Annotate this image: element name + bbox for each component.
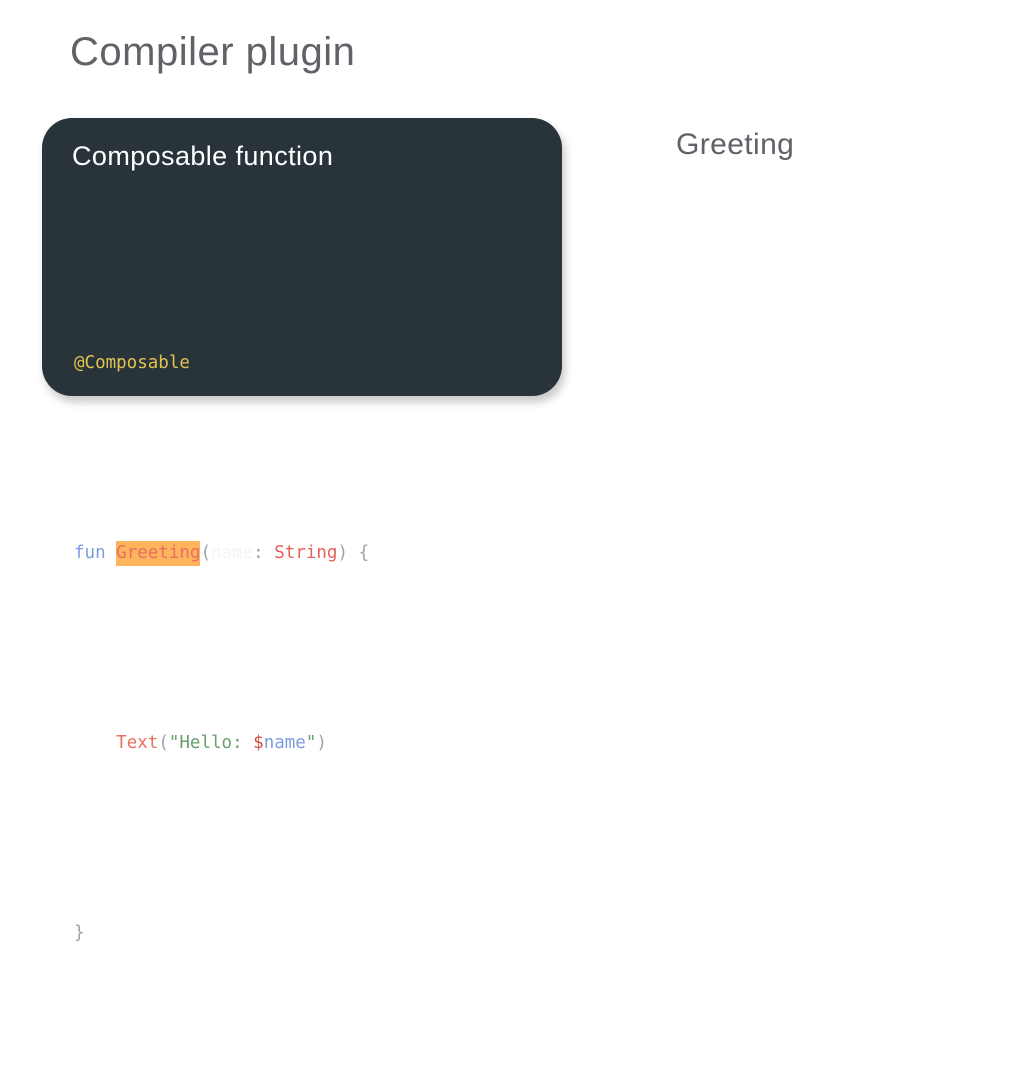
code-line: } — [74, 914, 534, 952]
code-token-brace-close: } — [74, 923, 85, 943]
composable-function-card: Composable function @Composable fun Gree… — [42, 118, 562, 396]
page-title: Compiler plugin — [70, 30, 355, 75]
code-token-space — [106, 543, 117, 563]
code-token-paren-close: ) — [316, 733, 327, 753]
code-token-space — [264, 543, 275, 563]
code-token-type-string: String — [274, 543, 337, 563]
code-token-paren-open: ( — [158, 733, 169, 753]
code-token-keyword-fun: fun — [74, 543, 106, 563]
highlighted-function-name: Greeting — [116, 541, 200, 566]
code-token-param-name: name — [211, 543, 253, 563]
code-line: @Composable — [74, 344, 534, 382]
code-token-call-text: Text — [116, 733, 158, 753]
code-block: @Composable fun Greeting(name: String) {… — [72, 192, 534, 1066]
code-token-interpolated-name: name — [264, 733, 306, 753]
card-heading: Composable function — [72, 140, 534, 174]
code-token-dollar-sign: $ — [253, 733, 264, 753]
code-line: Text("Hello: $name") — [74, 724, 534, 762]
code-token-space — [348, 543, 359, 563]
code-token-annotation: @Composable — [74, 353, 190, 373]
code-token-indent — [74, 733, 116, 753]
code-token-string-literal: "Hello: — [169, 733, 253, 753]
generated-symbol-label: Greeting — [676, 128, 794, 162]
code-token-paren-open: ( — [200, 543, 211, 563]
code-line: fun Greeting(name: String) { — [74, 534, 534, 572]
code-token-colon: : — [253, 543, 264, 563]
code-token-brace-open: { — [359, 543, 370, 563]
code-token-string-quote-close: " — [306, 733, 317, 753]
code-token-paren-close: ) — [337, 543, 348, 563]
